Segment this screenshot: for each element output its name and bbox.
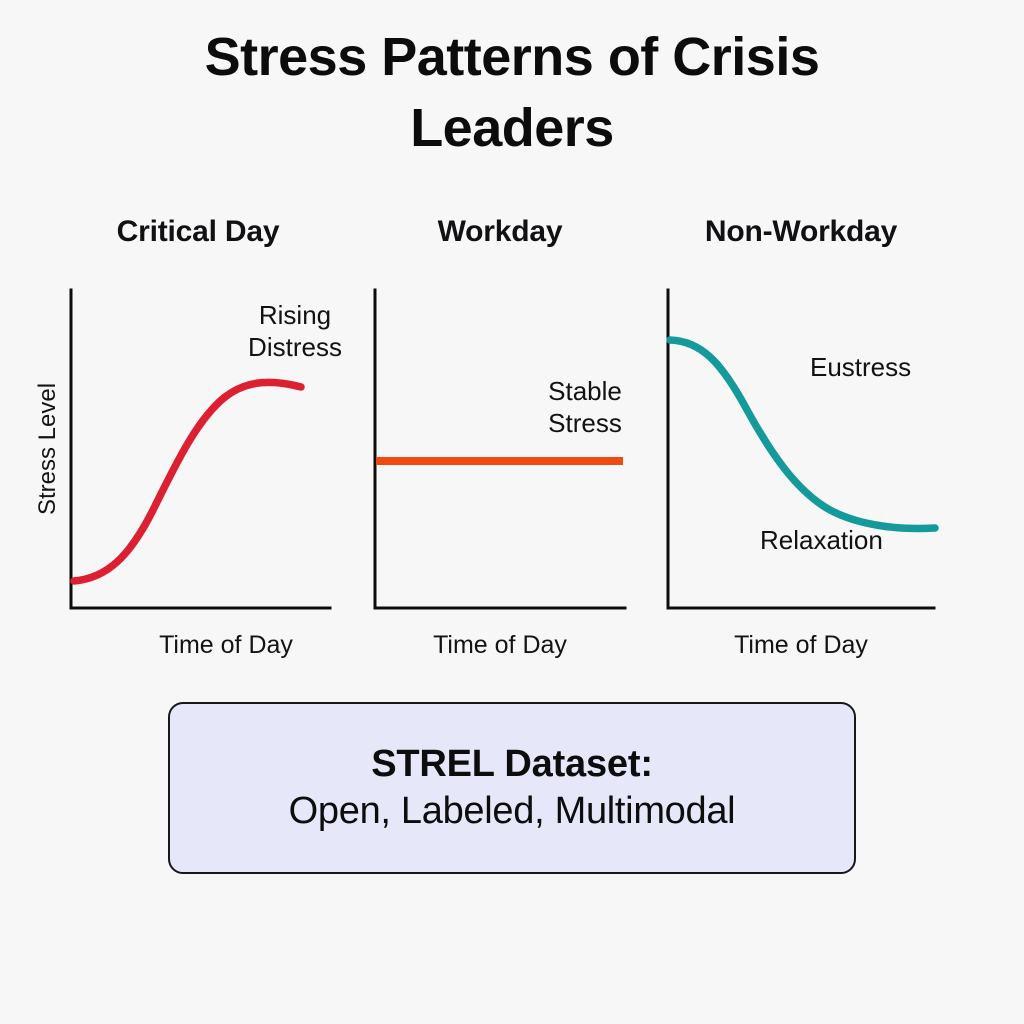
x-axis-label-non-workday: Time of Day: [668, 631, 934, 660]
x-axis-label-workday: Time of Day: [375, 631, 625, 660]
panel-non-workday: Non-Workday Eustress Relaxation Time of …: [650, 200, 960, 670]
series-line-rising-distress: [74, 382, 301, 581]
chart-non-workday: [650, 200, 960, 670]
dataset-callout-subtitle: Open, Labeled, Multimodal: [289, 790, 736, 833]
annotation-rising-distress: Rising Distress: [220, 300, 370, 363]
chart-critical-day: [20, 200, 350, 670]
x-axis-label-critical-day: Time of Day: [71, 631, 381, 660]
annotation-stable-stress: Stable Stress: [515, 376, 655, 439]
panel-critical-day: Critical Day Stress Level Rising Distres…: [20, 200, 350, 670]
annotation-eustress: Eustress: [810, 352, 960, 384]
annotation-relaxation: Relaxation: [760, 525, 940, 557]
y-axis-label-critical-day: Stress Level: [34, 349, 62, 549]
panel-workday: Workday Stable Stress Time of Day: [355, 200, 645, 670]
dataset-callout-title: STREL Dataset:: [371, 743, 653, 786]
dataset-callout-box: STREL Dataset: Open, Labeled, Multimodal: [168, 702, 856, 874]
